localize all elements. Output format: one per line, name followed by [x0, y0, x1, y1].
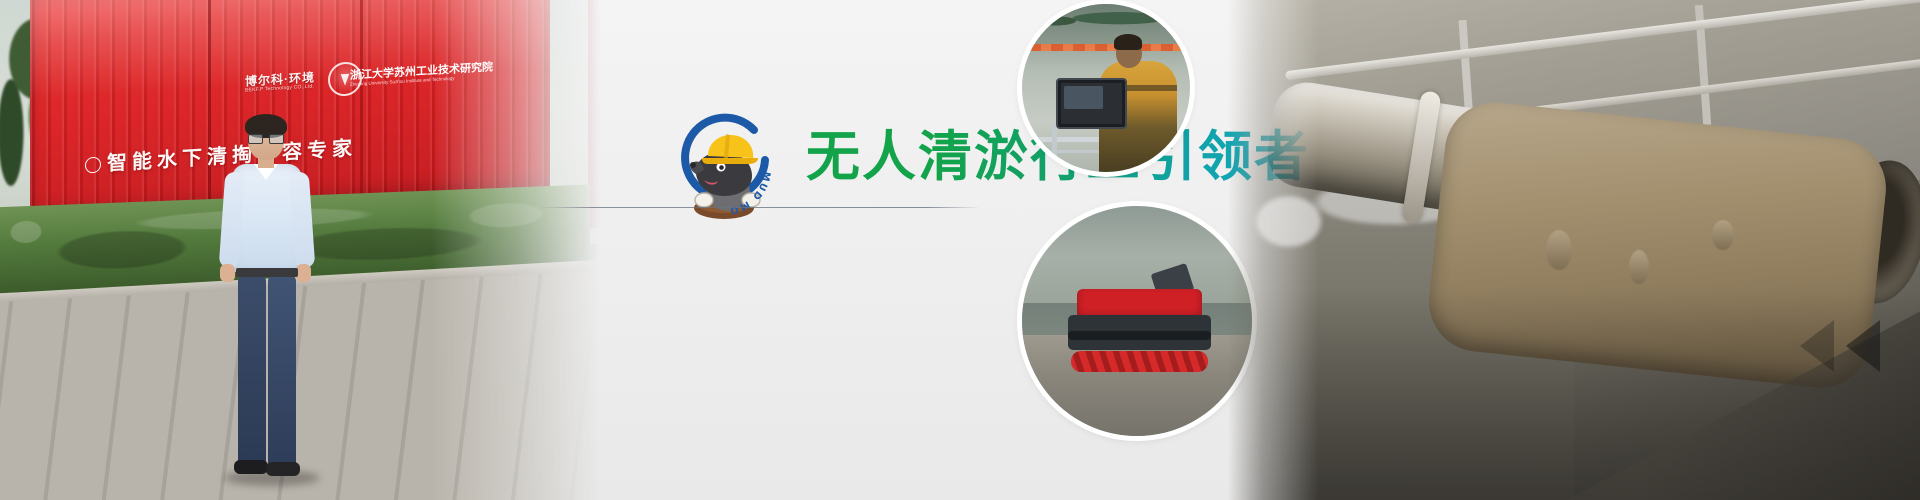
direction-arrow-icon: [1846, 320, 1880, 372]
logo-helmet-brim: [702, 158, 758, 164]
person-shoe-right: [266, 462, 300, 476]
robot-auger: [1071, 351, 1208, 371]
robot-track: [1068, 331, 1211, 340]
logo-glove-left: [695, 193, 713, 207]
dredging-robot: [1068, 289, 1211, 367]
logo-helmet: [708, 135, 753, 158]
engineer-person: [218, 118, 328, 500]
hero-banner: 博尔科·环境 BEKF.P Technology CO.,Ltd. 浙江大学苏州…: [0, 0, 1920, 500]
rail-post: [1052, 122, 1057, 172]
direction-arrow-secondary-icon: [1800, 320, 1834, 372]
container-and-engineer-photo: 博尔科·环境 BEKF.P Technology CO.,Ltd. 浙江大学苏州…: [0, 0, 600, 500]
person-leg-left: [238, 275, 266, 465]
person-hand-right: [296, 264, 311, 282]
logo-mole-pupil: [719, 165, 724, 170]
floating-boom: [1029, 44, 1184, 51]
control-case: [1056, 78, 1127, 129]
mud-mole-logo: MUD MOLE: [668, 108, 780, 220]
person-leg-right: [268, 275, 296, 465]
far-trees: [1022, 4, 1190, 29]
container-seam: [208, 0, 211, 207]
title-divider: [540, 207, 980, 208]
operator-hair: [1114, 34, 1142, 50]
discharge-pipe-slurry-photo: [1228, 0, 1920, 500]
person-belt: [236, 268, 298, 277]
lightbulb-icon: [85, 157, 101, 174]
operator-with-control-case-photo: [1022, 4, 1190, 172]
person-hand-left: [220, 264, 235, 282]
eyeglasses-icon: [248, 134, 284, 142]
person-shoe-left: [234, 460, 268, 474]
mud-mole-logo-svg: MUD MOLE: [668, 108, 780, 220]
logo-mole-nose: [690, 162, 696, 168]
dredging-robot-photo: [1022, 206, 1252, 436]
